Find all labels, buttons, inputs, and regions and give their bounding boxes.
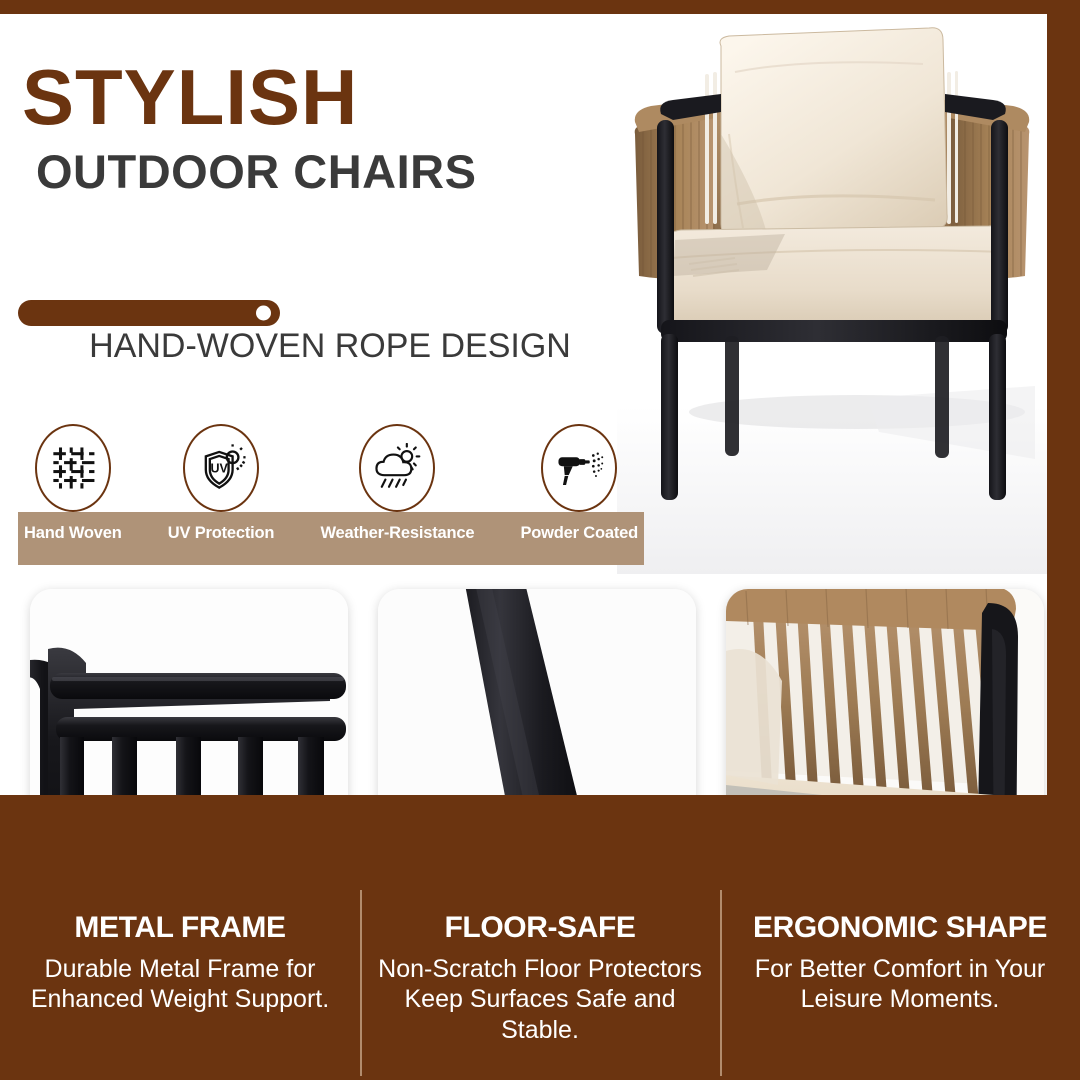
accent-dot [256,306,271,321]
feature-hand-woven: Hand Woven [24,424,122,543]
caption-ergonomic-shape: ERGONOMIC SHAPE For Better Comfort in Yo… [720,900,1080,1080]
caption-metal-frame: METAL FRAME Durable Metal Frame for Enha… [0,900,360,1080]
subheading: HAND-WOVEN ROPE DESIGN [60,324,600,370]
hero-chair-illustration [617,14,1047,574]
uv-shield-icon: UV [183,424,259,512]
caption-title: METAL FRAME [14,912,346,944]
caption-body: Durable Metal Frame for Enhanced Weight … [14,954,346,1015]
woven-mesh-icon [35,424,111,512]
page-title-main: STYLISH [22,60,582,134]
panel-ergonomic-shape [726,589,1044,795]
panel-floor-safe [378,589,696,795]
caption-floor-safe: FLOOR-SAFE Non-Scratch Floor Protectors … [360,900,720,1080]
caption-band: METAL FRAME Durable Metal Frame for Enha… [0,900,1080,1080]
caption-title: ERGONOMIC SHAPE [734,912,1066,944]
product-infographic-poster: STYLISH OUTDOOR CHAIRS HAND-WOVEN ROPE D… [0,0,1080,1080]
feature-uv-protection: UV UV Protection [168,424,275,543]
detail-panels [0,589,1047,795]
feature-weather-resistance: Weather-Resistance [320,424,474,543]
rope-backrest-closeup-image [726,589,1044,795]
caption-body: Non-Scratch Floor Protectors Keep Surfac… [374,954,706,1046]
panel-metal-frame [30,589,348,795]
feature-powder-coated: Powder Coated [520,424,638,543]
svg-text:UV: UV [211,461,229,475]
feature-label: Hand Woven [24,524,122,543]
page-title-sub: OUTDOOR CHAIRS [36,148,582,195]
title-block: STYLISH OUTDOOR CHAIRS [22,60,582,195]
feature-label: Weather-Resistance [320,524,474,543]
spray-gun-icon [541,424,617,512]
chair-leg-closeup-image [378,589,696,795]
main-white-canvas: STYLISH OUTDOOR CHAIRS HAND-WOVEN ROPE D… [0,14,1047,795]
cloud-rain-sun-icon [359,424,435,512]
accent-bar [18,300,280,326]
feature-label: UV Protection [168,524,275,543]
feature-label: Powder Coated [520,524,638,543]
hero-chair-image [617,14,1047,574]
caption-body: For Better Comfort in Your Leisure Momen… [734,954,1066,1015]
feature-badges: Hand Woven UV UV Protect [18,424,644,566]
caption-title: FLOOR-SAFE [374,912,706,944]
metal-frame-closeup-image [30,589,348,795]
